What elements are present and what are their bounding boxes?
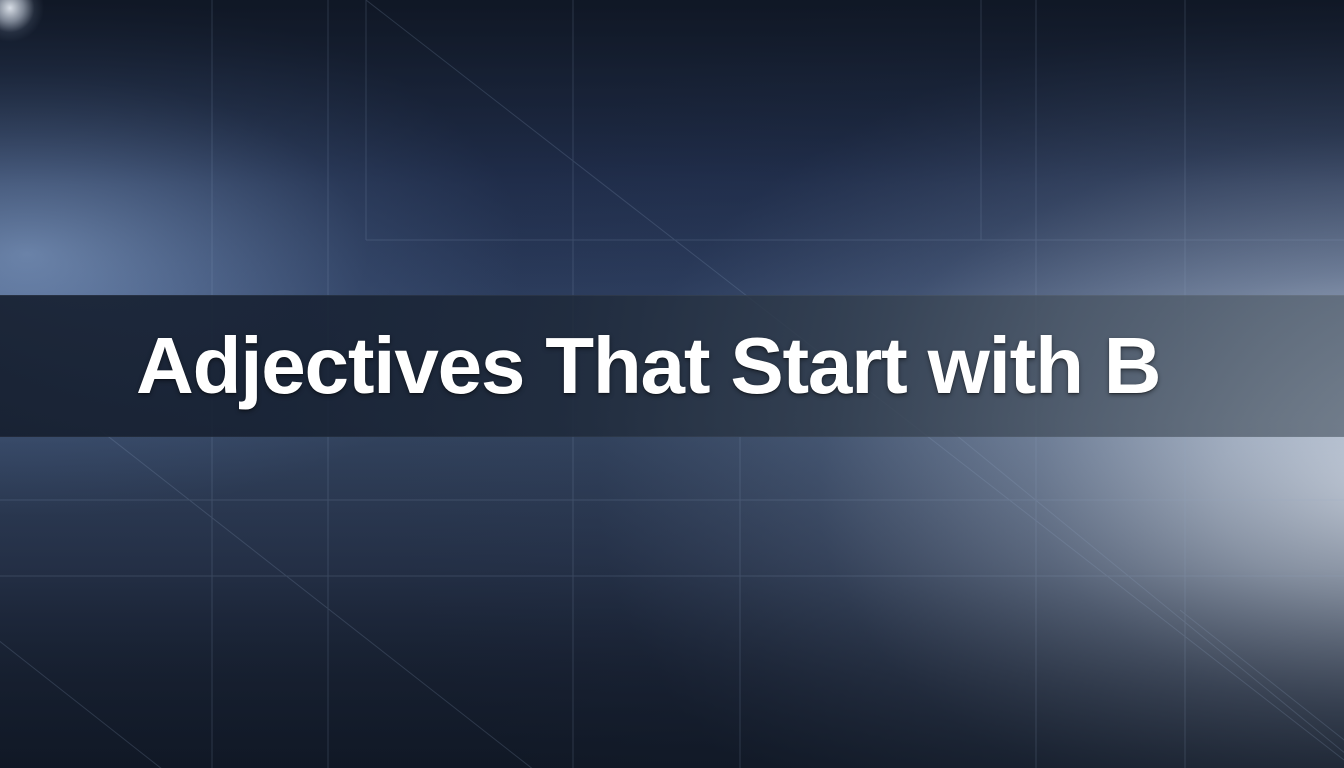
grid-line-diagonal (950, 430, 1344, 768)
grid-line-diagonal (100, 430, 700, 768)
grid-line-diagonal (1180, 610, 1344, 768)
page-title: Adjectives That Start with B (0, 326, 1160, 406)
slide-canvas: Adjectives That Start with B (0, 0, 1344, 768)
grid-line-diagonal (0, 610, 430, 768)
title-banner: Adjectives That Start with B (0, 295, 1344, 437)
